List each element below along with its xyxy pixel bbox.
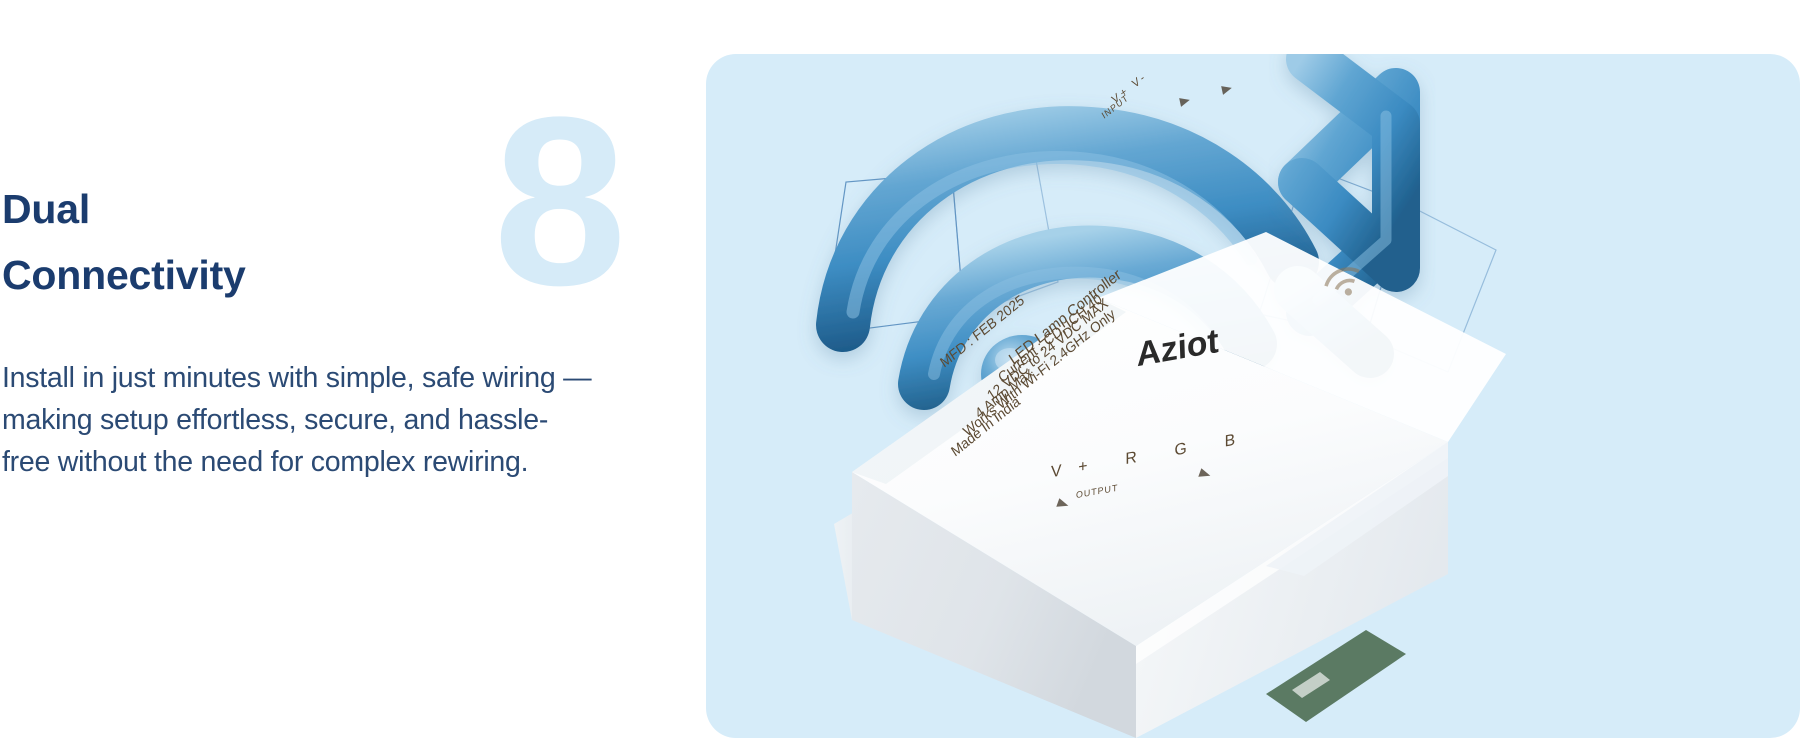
- body-line-2: making setup effortless, secure, and has…: [2, 399, 662, 441]
- product-image-card: LED Lamp Controller Current : CD, ICH 40…: [706, 54, 1800, 738]
- body-line-3: free without the need for complex rewiri…: [2, 441, 662, 483]
- product-illustration: [706, 54, 1800, 738]
- body-paragraph: Install in just minutes with simple, saf…: [2, 357, 662, 484]
- body-line-1: Install in just minutes with simple, saf…: [2, 357, 662, 399]
- terminal-arrows-top: [1179, 84, 1233, 107]
- feature-slide: 8 Dual Connectivity Install in just minu…: [0, 0, 1800, 738]
- product-stage: LED Lamp Controller Current : CD, ICH 40…: [706, 54, 1800, 738]
- step-number-badge: 8: [470, 86, 650, 316]
- headline-line-1: Dual: [2, 176, 472, 242]
- page-title: Dual Connectivity: [2, 176, 472, 309]
- text-column: 8 Dual Connectivity Install in just minu…: [0, 0, 700, 738]
- headline-line-2: Connectivity: [2, 242, 472, 308]
